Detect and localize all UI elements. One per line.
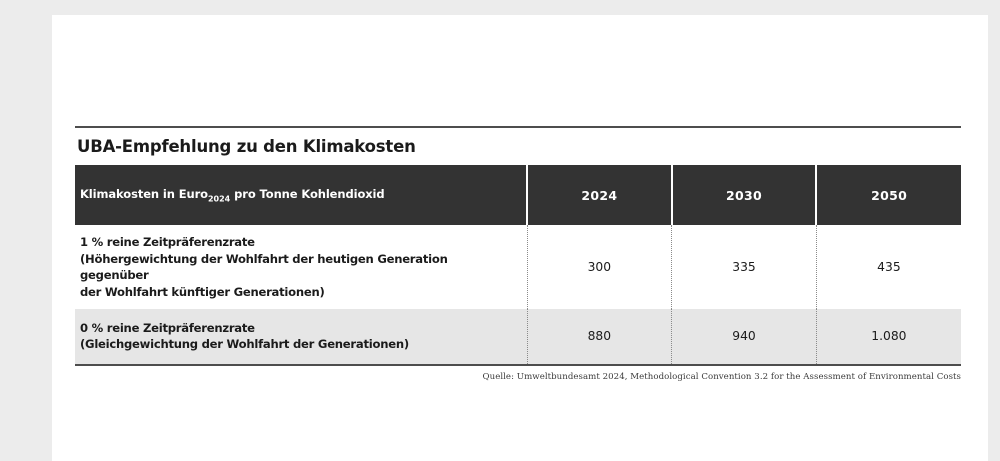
row-label-line-1: 0 % reine Zeitpräferenzrate — [80, 320, 517, 336]
document-viewport: UBA-Empfehlung zu den Klimakosten Klimak… — [0, 0, 1000, 461]
climate-cost-table: Klimakosten in Euro2024 pro Tonne Kohlen… — [75, 165, 961, 364]
table-header-row: Klimakosten in Euro2024 pro Tonne Kohlen… — [75, 165, 961, 225]
figure-title: UBA-Empfehlung zu den Klimakosten — [75, 128, 961, 165]
table-row: 0 % reine Zeitpräferenzrate (Gleichgewic… — [75, 309, 961, 364]
metric-label-prefix: Klimakosten in Euro — [80, 187, 208, 201]
row-label-0-percent: 0 % reine Zeitpräferenzrate (Gleichgewic… — [75, 309, 527, 364]
table-body: 1 % reine Zeitpräferenzrate (Höhergewich… — [75, 225, 961, 364]
column-header-year-2024: 2024 — [527, 165, 672, 225]
cell-0pct-2030: 940 — [672, 309, 817, 364]
cell-1pct-2030: 335 — [672, 225, 817, 309]
cell-0pct-2024: 880 — [527, 309, 672, 364]
column-header-year-2030: 2030 — [672, 165, 817, 225]
table-header: Klimakosten in Euro2024 pro Tonne Kohlen… — [75, 165, 961, 225]
figure-source-note: Quelle: Umweltbundesamt 2024, Methodolog… — [75, 366, 961, 382]
table-row: 1 % reine Zeitpräferenzrate (Höhergewich… — [75, 225, 961, 309]
row-label-line-2: (Höhergewichtung der Wohlfahrt der heuti… — [80, 251, 517, 284]
column-header-metric: Klimakosten in Euro2024 pro Tonne Kohlen… — [75, 165, 527, 225]
metric-label-subscript: 2024 — [208, 194, 230, 203]
row-label-line-3: der Wohlfahrt künftiger Generationen) — [80, 284, 517, 300]
row-label-1-percent: 1 % reine Zeitpräferenzrate (Höhergewich… — [75, 225, 527, 309]
column-header-year-2050: 2050 — [816, 165, 961, 225]
row-label-line-2: (Gleichgewichtung der Wohlfahrt der Gene… — [80, 336, 517, 352]
cell-1pct-2050: 435 — [816, 225, 961, 309]
cell-1pct-2024: 300 — [527, 225, 672, 309]
metric-label-suffix: pro Tonne Kohlendioxid — [230, 187, 384, 201]
row-label-line-1: 1 % reine Zeitpräferenzrate — [80, 234, 517, 250]
cell-0pct-2050: 1.080 — [816, 309, 961, 364]
climate-cost-figure: UBA-Empfehlung zu den Klimakosten Klimak… — [75, 126, 961, 382]
document-page: UBA-Empfehlung zu den Klimakosten Klimak… — [52, 15, 988, 461]
